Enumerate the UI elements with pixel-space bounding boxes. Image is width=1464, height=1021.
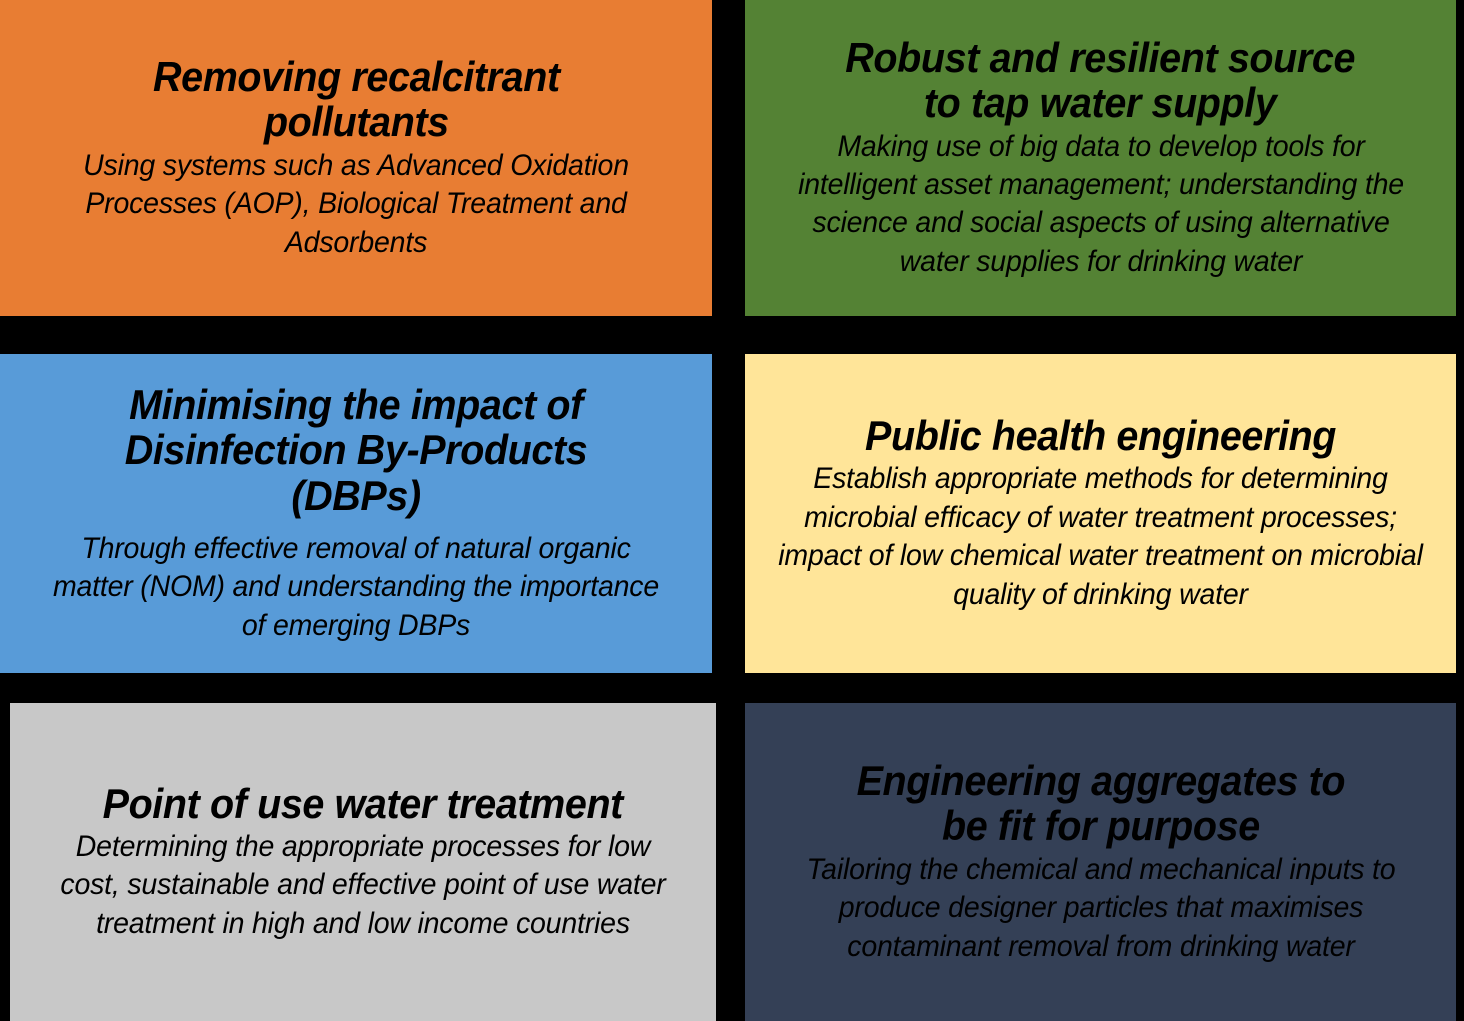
theme-panel-robust-and-resilient-source-to-tap-water-supply[interactable]: Robust and resilient source to tap water…: [745, 0, 1456, 316]
panel-title: Robust and resilient source to tap water…: [832, 35, 1368, 126]
panel-body: Through effective removal of natural org…: [36, 530, 676, 645]
panel-title: Removing recalcitrant pollutants: [139, 54, 572, 145]
panel-body: Tailoring the chemical and mechanical in…: [771, 851, 1430, 966]
theme-panel-engineering-aggregates-to-be-fit-for-purpose[interactable]: Engineering aggregates to be fit for pur…: [745, 703, 1456, 1021]
theme-panel-point-of-use-water-treatment[interactable]: Point of use water treatment Determining…: [10, 703, 716, 1021]
panel-title: Public health engineering: [852, 413, 1349, 458]
research-themes-board: Removing recalcitrant pollutants Using s…: [0, 0, 1464, 1021]
theme-panel-minimising-the-impact-of-disinfection-by-products[interactable]: Minimising the impact of Disinfection By…: [0, 354, 712, 673]
panel-title: Minimising the impact of Disinfection By…: [112, 382, 601, 518]
panel-body: Determining the appropriate processes fo…: [38, 828, 688, 943]
theme-panel-removing-recalcitrant-pollutants[interactable]: Removing recalcitrant pollutants Using s…: [0, 0, 712, 316]
panel-body: Using systems such as Advanced Oxidation…: [41, 147, 672, 262]
theme-panel-public-health-engineering[interactable]: Public health engineering Establish appr…: [745, 354, 1456, 673]
panel-title: Engineering aggregates to be fit for pur…: [843, 758, 1358, 849]
panel-title: Point of use water treatment: [90, 781, 637, 826]
panel-body: Establish appropriate methods for determ…: [763, 460, 1438, 614]
panel-body: Making use of big data to develop tools …: [766, 128, 1435, 282]
